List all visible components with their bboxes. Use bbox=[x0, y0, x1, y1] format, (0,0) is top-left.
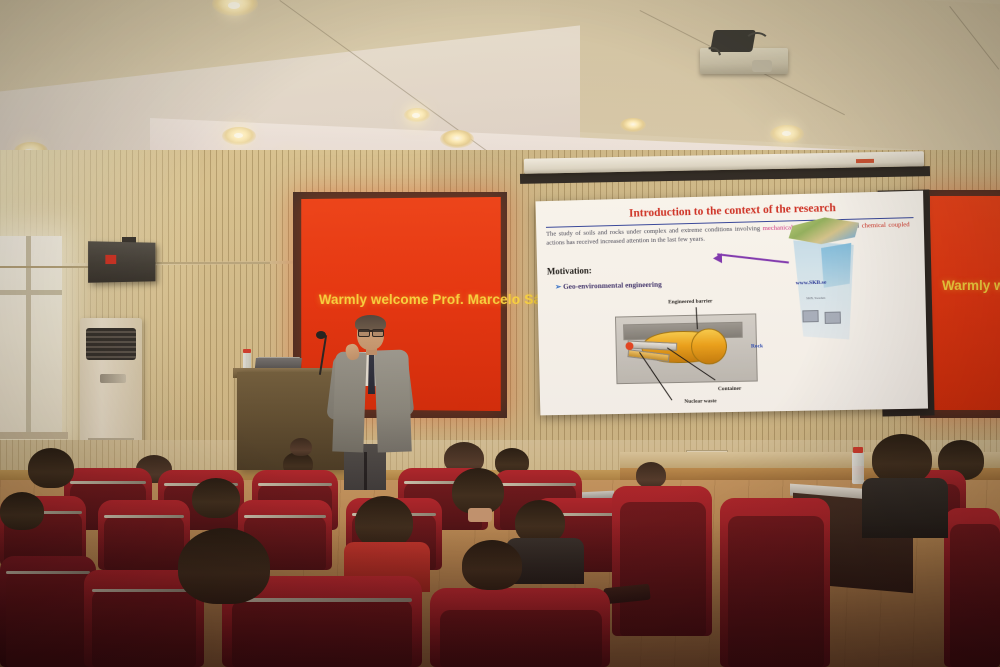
audience-head-foreground bbox=[178, 528, 270, 604]
lecture-hall-photo: Warmly welcome Prof. Marcelo Sánchez War… bbox=[0, 0, 1000, 667]
seat-headrest-trim bbox=[92, 589, 196, 592]
seat-headrest-trim bbox=[232, 598, 412, 602]
seat-cushion bbox=[950, 524, 1000, 667]
audience-area bbox=[0, 0, 1000, 667]
audience-head bbox=[462, 540, 522, 590]
audience-head bbox=[636, 462, 666, 488]
audience-head bbox=[192, 478, 240, 518]
water-bottle-desk bbox=[852, 452, 864, 484]
seat-cushion bbox=[728, 516, 824, 667]
audience-head bbox=[290, 438, 312, 456]
seat-headrest-trim bbox=[500, 483, 576, 486]
audience-head bbox=[0, 492, 44, 530]
seat-headrest-trim bbox=[258, 483, 332, 486]
audience-head bbox=[355, 496, 413, 548]
seat-cushion bbox=[440, 610, 602, 667]
seat-headrest-trim bbox=[70, 481, 146, 484]
seat-headrest-trim bbox=[104, 515, 184, 518]
bottle-cap-icon bbox=[853, 447, 863, 453]
seat-cushion bbox=[92, 590, 196, 667]
audience-neck bbox=[468, 508, 492, 522]
seat-cushion bbox=[6, 572, 90, 667]
audience-head bbox=[872, 434, 932, 484]
audience-torso bbox=[862, 478, 948, 538]
seat-cushion bbox=[620, 502, 706, 636]
audience-head bbox=[28, 448, 74, 488]
seat-cushion bbox=[104, 516, 184, 570]
seat-headrest-trim bbox=[244, 515, 326, 518]
seat-headrest-trim bbox=[6, 571, 90, 574]
seat-cushion bbox=[232, 600, 412, 667]
